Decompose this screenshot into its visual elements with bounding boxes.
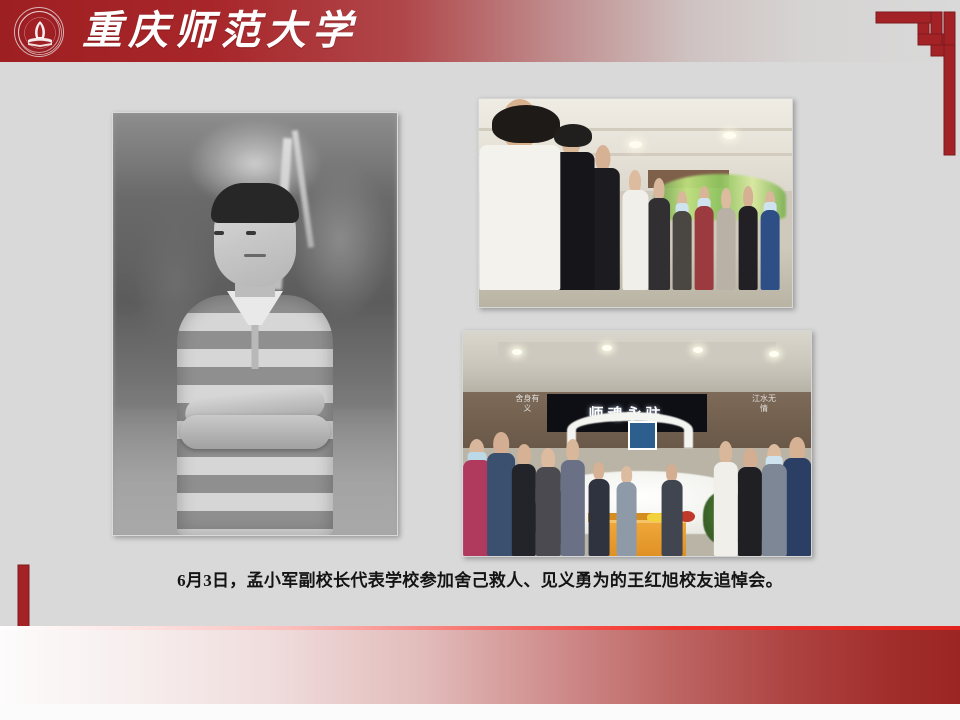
mourner-back-1 [673,191,692,291]
university-logo-icon [14,7,64,57]
ceiling-spotlight-3 [693,347,703,353]
portrait-photo-wang-hongxu [112,112,398,536]
chinese-corner-ornament-top-right [848,0,960,166]
funeral-hall-photo: 师魂永驻 舍身有义 江水无情 [462,330,812,557]
memorial-couplet-left: 舍身有义 [515,394,539,437]
header-bar: 重庆师范大学 [0,0,960,62]
slide-canvas: 重庆师范大学 [0,0,960,720]
visitor-left-4 [536,448,560,556]
ceiling-panel [498,342,776,362]
mourners-standing-photo [478,98,793,308]
visitor-right-2 [762,444,786,557]
visitor-mid-3 [661,464,682,556]
deceased-portrait-frame [628,421,656,450]
visitor-right-4 [714,441,738,556]
ceiling-spotlight-2 [602,345,612,351]
slide-caption: 6月3日，孟小军副校长代表学校参加舍己救人、见义勇为的王红旭校友追悼会。 [0,568,960,594]
footer-white-strip [0,704,960,720]
mourner-mid-2 [623,170,648,291]
suit-mourner-hair [554,124,592,147]
mourner-back-3 [717,188,736,290]
visitor-right-3 [738,448,762,556]
university-name-title: 重庆师范大学 [82,4,358,58]
footer-gradient-band [0,626,960,704]
mourner-mid-1 [648,178,670,290]
visitor-right-1 [783,437,811,556]
hair [211,183,299,223]
ceiling-light-2 [629,141,642,148]
mourner-back-4 [739,186,758,290]
mouth [244,254,266,257]
shirt-placket [252,321,259,369]
memorial-couplet-right: 江水无情 [752,394,776,437]
visitor-mid-1 [588,462,609,557]
visitor-left-3 [512,444,536,557]
front-mourner-hair [492,105,561,142]
ceiling-spotlight-1 [512,349,522,355]
eye-right [246,231,256,235]
crossed-arm-lower [180,415,330,449]
visitor-left-5 [560,439,584,556]
eye-left [214,231,224,235]
mourner-back-5 [761,191,780,291]
mourner-back-2 [695,186,714,290]
footer-accent-line [0,626,960,630]
visitor-mid-2 [616,466,637,556]
